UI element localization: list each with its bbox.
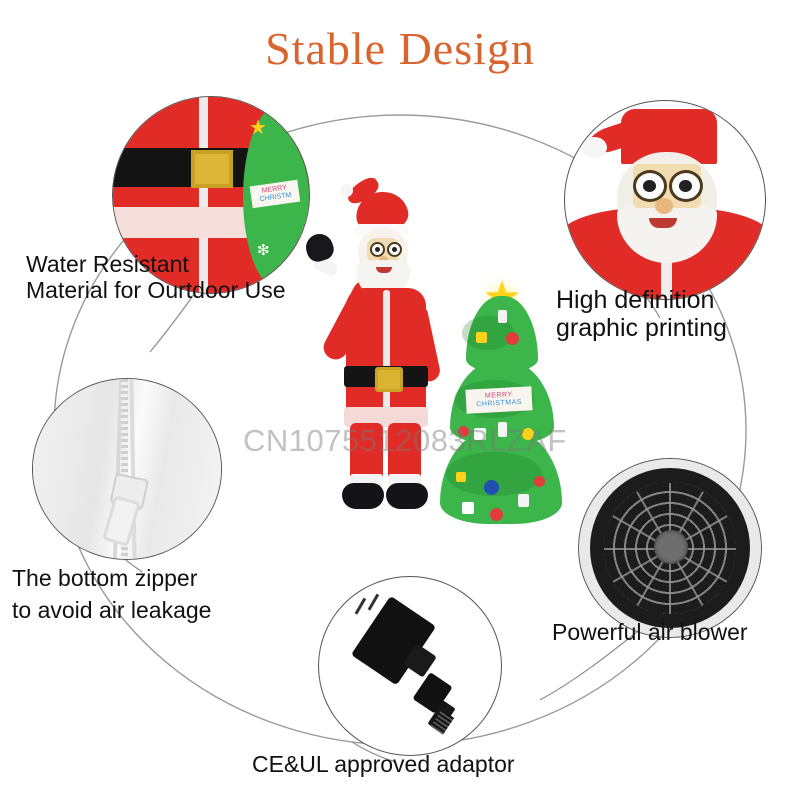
tree-banner-line2: CHRISTMAS (476, 399, 522, 409)
callout-label-high-definition: High definition graphic printing (556, 286, 727, 342)
stocking-ornament (506, 332, 519, 345)
callout-label-water-resistant: Water Resistant Material for Ourtdoor Us… (26, 252, 285, 304)
callout-bubble-air-blower[interactable] (578, 458, 762, 638)
santa-eye-left (370, 242, 385, 257)
callout-bubble-high-definition[interactable] (564, 100, 766, 300)
belt-buckle (191, 150, 233, 188)
candy-cane-ornament (498, 422, 507, 437)
air-blower-closeup-image (579, 459, 761, 637)
tree-star-icon: ★ (249, 115, 267, 140)
santa-belt-buckle (375, 367, 403, 392)
infographic-canvas: Stable Design ★ ❇ MERRY CHRISTM (0, 0, 800, 800)
snowflake-ornament (462, 502, 474, 514)
hat-pompom (581, 137, 607, 159)
adaptor-prong-right (367, 594, 378, 611)
ball-ornament (484, 480, 499, 495)
callout-label-adaptor: CE&UL approved adaptor (252, 752, 515, 778)
ball-ornament (534, 476, 545, 487)
callout-bubble-bottom-zipper[interactable] (32, 378, 222, 560)
adaptor-prong-left (355, 597, 366, 614)
zipper-closeup-image (33, 379, 221, 559)
tree-merry-christmas-banner: MERRY CHRISTMAS (465, 386, 532, 413)
adaptor-closeup-image (319, 577, 501, 755)
santa-eye-right (669, 170, 703, 202)
bell-ornament (456, 472, 466, 482)
hero-product-image: ★ MERRY CHRISTMAS (300, 168, 570, 560)
callout-bubble-adaptor[interactable] (318, 576, 502, 756)
blower-hub (654, 530, 689, 564)
stocking-ornament (458, 426, 469, 437)
snowflake-ornament (474, 428, 486, 440)
page-title: Stable Design (0, 22, 800, 75)
santa-boot-left (342, 483, 384, 509)
santa-hat-pompom (340, 184, 353, 197)
stocking-ornament (518, 494, 529, 507)
callout-label-bottom-zipper: The bottom zipper to avoid air leakage (12, 562, 211, 626)
star-ornament (522, 428, 534, 440)
stocking-ornament (490, 508, 503, 521)
candy-cane-ornament (498, 310, 507, 323)
santa-face-closeup-image (565, 101, 765, 299)
santa-nose (655, 198, 673, 214)
santa-eye-right (387, 242, 402, 257)
star-ornament (476, 332, 487, 343)
santa-coat-zipper (383, 290, 390, 414)
callout-label-air-blower: Powerful air blower (552, 620, 748, 646)
christmas-tree-figure: ★ MERRY CHRISTMAS (440, 276, 562, 542)
santa-boot-right (386, 483, 428, 509)
santa-mitten (302, 230, 336, 264)
